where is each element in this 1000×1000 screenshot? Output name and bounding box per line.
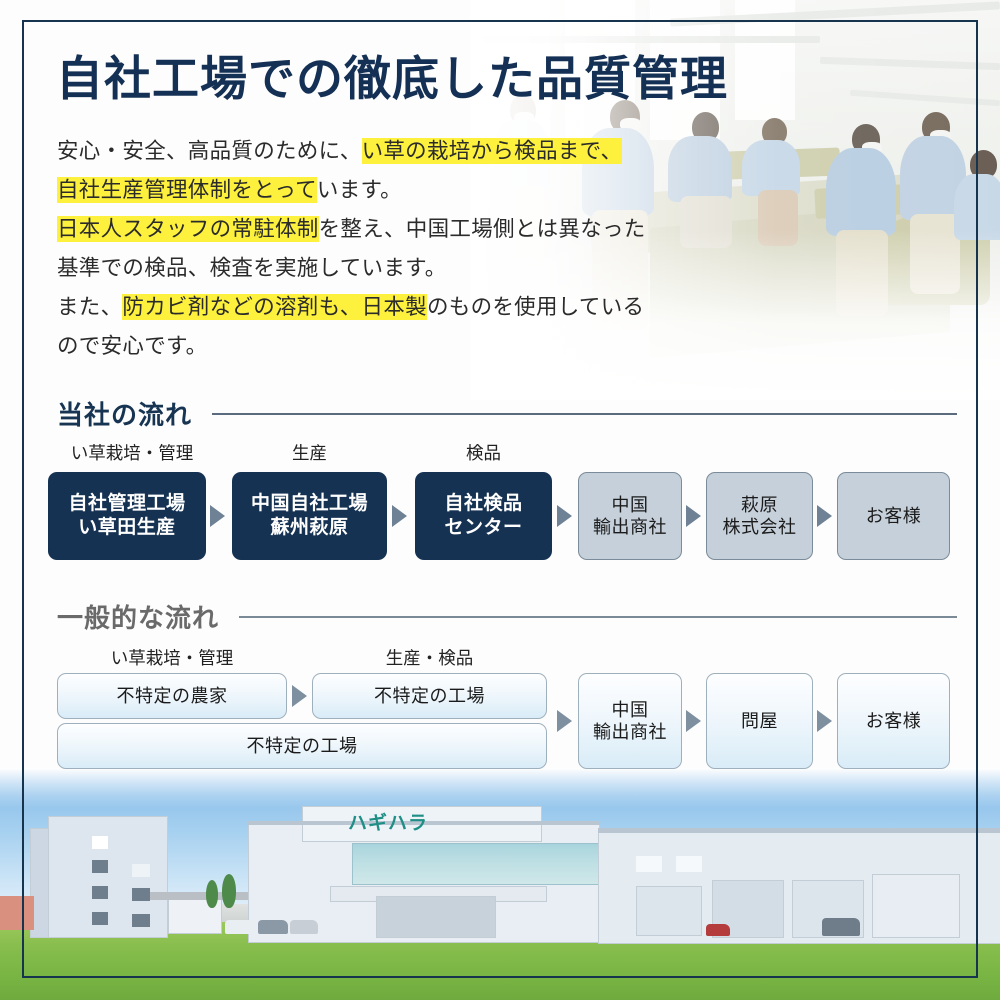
flow-box-line: 中国 xyxy=(593,699,667,722)
our-flow-stage-label: 検品 xyxy=(415,440,552,465)
general-flow-box: お客様 xyxy=(837,673,950,769)
our-flow-box: 中国輸出商社 xyxy=(578,472,682,560)
intro-line: 安心・安全、高品質のために、い草の栽培から検品まで、 xyxy=(57,132,717,171)
flow-arrow-icon xyxy=(817,505,832,527)
intro-line: 基準での検品、検査を実施しています。 xyxy=(57,249,717,288)
plain-text: また、 xyxy=(57,295,122,319)
flow-box-label: 中国自社工場蘇州萩原 xyxy=(251,492,368,540)
flow-box-line: 中国自社工場 xyxy=(251,492,368,516)
flow-box-line: い草田生産 xyxy=(68,516,185,540)
our-flow-diagram: い草栽培・管理生産検品自社管理工場い草田生産中国自社工場蘇州萩原自社検品センター… xyxy=(0,440,1000,560)
flow-arrow-icon xyxy=(686,505,701,527)
flow-box-line: 問屋 xyxy=(741,710,778,733)
general-flow-box: 中国輸出商社 xyxy=(578,673,682,769)
plain-text: のものを使用している xyxy=(427,295,644,319)
our-flow-title: 当社の流れ xyxy=(57,395,192,432)
intro-line: ので安心です。 xyxy=(57,327,717,366)
our-flow-stage-label: 生産 xyxy=(232,440,387,465)
general-flow-stage-label: い草栽培・管理 xyxy=(57,645,287,670)
flow-box-label: 萩原株式会社 xyxy=(723,494,797,539)
heading-rule xyxy=(239,616,957,618)
flow-box-line: 不特定の工場 xyxy=(374,685,485,708)
intro-line: 自社生産管理体制をとっています。 xyxy=(57,171,717,210)
our-flow-box: お客様 xyxy=(837,472,950,560)
plain-text: 安心・安全、高品質のために、 xyxy=(57,139,362,163)
flow-box-line: 輸出商社 xyxy=(593,516,667,539)
flow-arrow-icon xyxy=(686,710,701,732)
flow-box-line: 株式会社 xyxy=(723,516,797,539)
heading-rule xyxy=(212,413,957,415)
our-flow-box: 萩原株式会社 xyxy=(706,472,813,560)
flow-box-label: 問屋 xyxy=(741,710,778,733)
intro-line: また、防カビ剤などの溶剤も、日本製のものを使用している xyxy=(57,288,717,327)
flow-box-line: 蘇州萩原 xyxy=(251,516,368,540)
flow-box-label: 中国輸出商社 xyxy=(593,699,667,744)
flow-box-label: 不特定の工場 xyxy=(374,685,485,708)
flow-box-line: 中国 xyxy=(593,494,667,517)
general-flow-box: 問屋 xyxy=(706,673,813,769)
general-flow-diagram: い草栽培・管理生産・検品不特定の農家不特定の工場不特定の工場中国輸出商社問屋お客… xyxy=(0,645,1000,775)
general-flow-stage-label: 生産・検品 xyxy=(312,645,547,670)
flow-box-label: 中国輸出商社 xyxy=(593,494,667,539)
general-flow-wide-box: 不特定の工場 xyxy=(57,723,547,769)
our-flow-box: 自社管理工場い草田生産 xyxy=(48,472,206,560)
flow-box-line: センター xyxy=(444,516,522,540)
flow-arrow-icon xyxy=(392,505,407,527)
flow-box-line: お客様 xyxy=(866,505,922,528)
flow-arrow-icon xyxy=(817,710,832,732)
highlighted-text: 日本人スタッフの常駐体制 xyxy=(57,216,319,242)
general-flow-box: 不特定の農家 xyxy=(57,673,287,719)
flow-arrow-icon xyxy=(557,710,572,732)
flow-box-line: 自社検品 xyxy=(444,492,522,516)
poster-root: ハギハラ 自社工場での徹底した品質管理 安心・安全、高品質のために、い草の栽培か… xyxy=(0,0,1000,1000)
flow-box-line: 不特定の農家 xyxy=(117,685,228,708)
plain-text: 基準での検品、検査を実施しています。 xyxy=(57,256,447,280)
flow-box-line: 不特定の工場 xyxy=(247,735,358,758)
flow-box-label: 不特定の農家 xyxy=(117,685,228,708)
general-flow-title: 一般的な流れ xyxy=(57,598,219,635)
our-flow-box: 中国自社工場蘇州萩原 xyxy=(232,472,387,560)
flow-box-label: 不特定の工場 xyxy=(247,735,358,758)
flow-arrow-icon xyxy=(292,685,307,707)
flow-box-label: 自社検品センター xyxy=(444,492,522,540)
highlighted-text: い草の栽培から検品まで、 xyxy=(362,138,623,164)
our-flow-box: 自社検品センター xyxy=(415,472,552,560)
highlighted-text: 自社生産管理体制をとって xyxy=(57,177,317,203)
flow-box-label: 自社管理工場い草田生産 xyxy=(68,492,185,540)
our-flow-stage-label: い草栽培・管理 xyxy=(57,440,207,465)
flow-arrow-icon xyxy=(557,505,572,527)
intro-paragraph: 安心・安全、高品質のために、い草の栽培から検品まで、自社生産管理体制をとっていま… xyxy=(57,132,717,366)
plain-text: います。 xyxy=(317,178,402,202)
flow-arrow-icon xyxy=(210,505,225,527)
general-flow-box: 不特定の工場 xyxy=(312,673,547,719)
intro-line: 日本人スタッフの常駐体制を整え、中国工場側とは異なった xyxy=(57,210,717,249)
general-flow-heading: 一般的な流れ xyxy=(57,598,957,635)
flow-box-label: お客様 xyxy=(866,710,922,733)
highlighted-text: 防カビ剤などの溶剤も、日本製 xyxy=(122,294,427,320)
our-flow-heading: 当社の流れ xyxy=(57,395,957,432)
flow-box-line: 輸出商社 xyxy=(593,721,667,744)
page-title: 自社工場での徹底した品質管理 xyxy=(56,53,728,105)
plain-text: ので安心です。 xyxy=(57,334,207,358)
plain-text: を整え、中国工場側とは異なった xyxy=(319,217,646,241)
flow-box-line: 萩原 xyxy=(723,494,797,517)
flow-box-line: お客様 xyxy=(866,710,922,733)
flow-box-line: 自社管理工場 xyxy=(68,492,185,516)
flow-box-label: お客様 xyxy=(866,505,922,528)
